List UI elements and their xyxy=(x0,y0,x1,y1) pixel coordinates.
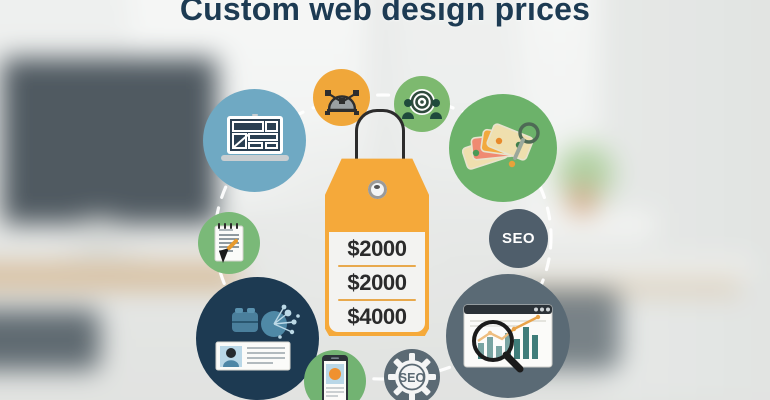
node-seo-badge[interactable]: SEO xyxy=(489,209,548,268)
seo-badge-label: SEO xyxy=(502,230,535,247)
seo-gear-icon: SEO xyxy=(388,353,436,400)
tag-hole xyxy=(368,180,387,199)
price-divider-1 xyxy=(338,265,416,267)
price-row-2: $2000 xyxy=(329,268,425,298)
node-laptop-wireframe[interactable] xyxy=(203,89,306,192)
laptop-wireframe-icon xyxy=(219,112,291,170)
pen-tool-icon xyxy=(322,80,362,116)
price-row-1: $2000 xyxy=(329,234,425,264)
page-title: Custom web design prices xyxy=(0,0,770,27)
node-content-document[interactable] xyxy=(198,212,260,274)
node-color-palette[interactable] xyxy=(449,94,557,202)
target-people-icon xyxy=(401,86,443,122)
social-profile-icon xyxy=(210,300,306,378)
infographic-banner: Custom web design prices xyxy=(0,0,770,400)
price-list: $2000 $2000 $4000 xyxy=(329,232,425,333)
color-swatch-icon xyxy=(462,114,544,182)
analytics-search-icon xyxy=(458,297,558,375)
price-tag[interactable]: $2000 $2000 $4000 xyxy=(325,155,429,336)
smartphone-icon xyxy=(318,354,352,400)
price-row-3: $4000 xyxy=(329,302,425,332)
seo-gear-label: SEO xyxy=(399,371,426,385)
tag-string xyxy=(355,109,405,167)
notepad-pen-icon xyxy=(209,221,249,265)
node-analytics[interactable] xyxy=(446,274,570,398)
node-seo-gear[interactable]: SEO xyxy=(384,349,440,400)
node-social-media[interactable] xyxy=(196,277,319,400)
price-divider-2 xyxy=(338,299,416,301)
